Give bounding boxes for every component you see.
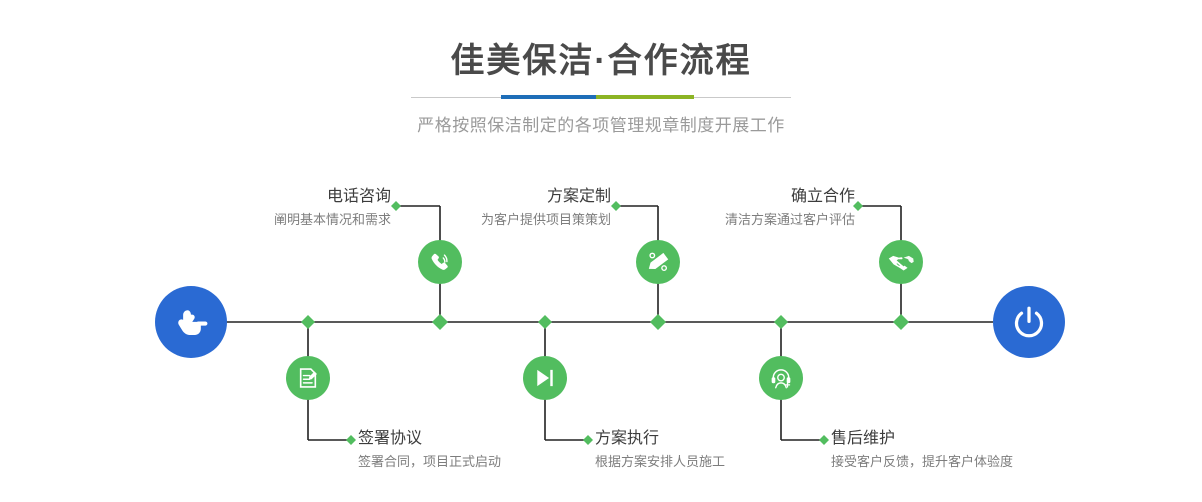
label-phone-consult: 电话咨询 阐明基本情况和需求: [274, 186, 391, 230]
label-title: 电话咨询: [274, 186, 391, 208]
flow-end-node[interactable]: [993, 286, 1065, 358]
document-edit-icon: [295, 365, 321, 391]
node-plan-customize[interactable]: [636, 240, 680, 284]
label-title: 方案执行: [595, 428, 725, 450]
pointing-hand-icon: [170, 301, 212, 343]
flow-connectors: [0, 0, 1202, 502]
label-establish-cooperation: 确立合作 清洁方案通过客户评估: [725, 186, 855, 230]
label-desc: 为客户提供项目策策划: [481, 210, 611, 230]
handshake-icon: [887, 248, 915, 276]
label-desc: 清洁方案通过客户评估: [725, 210, 855, 230]
label-sign-agreement: 签署协议 签署合同，项目正式启动: [358, 428, 501, 472]
node-plan-execute[interactable]: [523, 356, 567, 400]
label-after-sales: 售后维护 接受客户反馈，提升客户体验度: [831, 428, 1013, 472]
power-icon: [1009, 302, 1049, 342]
flow-infographic-page: 佳美保洁·合作流程 严格按照保洁制定的各项管理规章制度开展工作: [0, 0, 1202, 502]
label-title: 方案定制: [481, 186, 611, 208]
node-phone-consult[interactable]: [418, 240, 462, 284]
label-title: 售后维护: [831, 428, 1013, 450]
label-title: 确立合作: [725, 186, 855, 208]
label-desc: 根据方案安排人员施工: [595, 452, 725, 472]
play-next-icon: [532, 365, 558, 391]
process-flow-diagram: 电话咨询 阐明基本情况和需求 签署协议 签署合同，项目正式启动: [0, 0, 1202, 502]
label-desc: 阐明基本情况和需求: [274, 210, 391, 230]
flow-start-node[interactable]: [155, 286, 227, 358]
label-desc: 签署合同，项目正式启动: [358, 452, 501, 472]
label-plan-customize: 方案定制 为客户提供项目策策划: [481, 186, 611, 230]
label-desc: 接受客户反馈，提升客户体验度: [831, 452, 1013, 472]
node-establish-cooperation[interactable]: [879, 240, 923, 284]
phone-call-icon: [427, 249, 453, 275]
headset-support-icon: [768, 365, 794, 391]
pencil-edit-icon: [645, 249, 671, 275]
label-title: 签署协议: [358, 428, 501, 450]
label-plan-execute: 方案执行 根据方案安排人员施工: [595, 428, 725, 472]
node-after-sales[interactable]: [759, 356, 803, 400]
node-sign-agreement[interactable]: [286, 356, 330, 400]
